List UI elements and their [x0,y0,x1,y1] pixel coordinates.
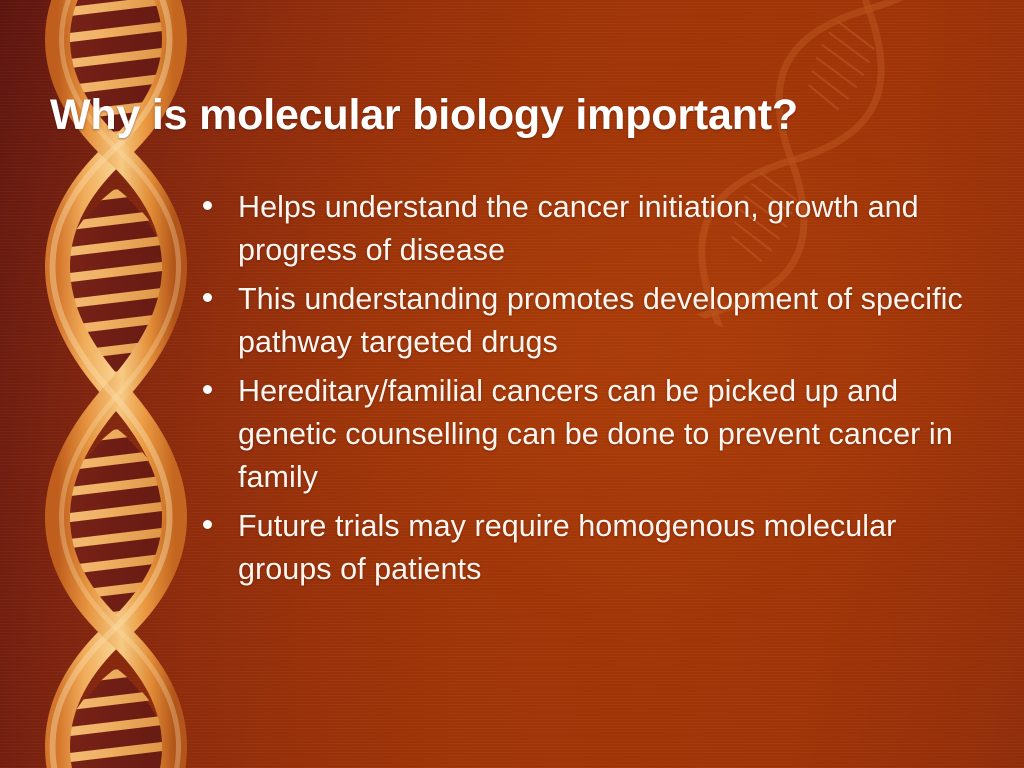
list-item-label: Hereditary/familial cancers can be picke… [238,370,996,499]
bullet-marker-icon [203,520,212,529]
list-item-label: Future trials may require homogenous mol… [238,505,996,591]
list-item[interactable]: This understanding promotes development … [196,278,996,364]
list-item-label: This understanding promotes development … [238,278,996,364]
bullet-marker-icon [203,385,212,394]
list-item-label: Helps understand the cancer initiation, … [238,186,996,272]
slide-body-placeholder: Helps understand the cancer initiation, … [196,186,996,597]
list-item[interactable]: Hereditary/familial cancers can be picke… [196,370,996,499]
slide-canvas: Why is molecular biology important? Help… [0,0,1024,768]
slide-title: Why is molecular biology important? [50,92,980,138]
bullet-marker-icon [203,293,212,302]
bullet-marker-icon [203,201,212,210]
list-item[interactable]: Future trials may require homogenous mol… [196,505,996,591]
list-item[interactable]: Helps understand the cancer initiation, … [196,186,996,272]
